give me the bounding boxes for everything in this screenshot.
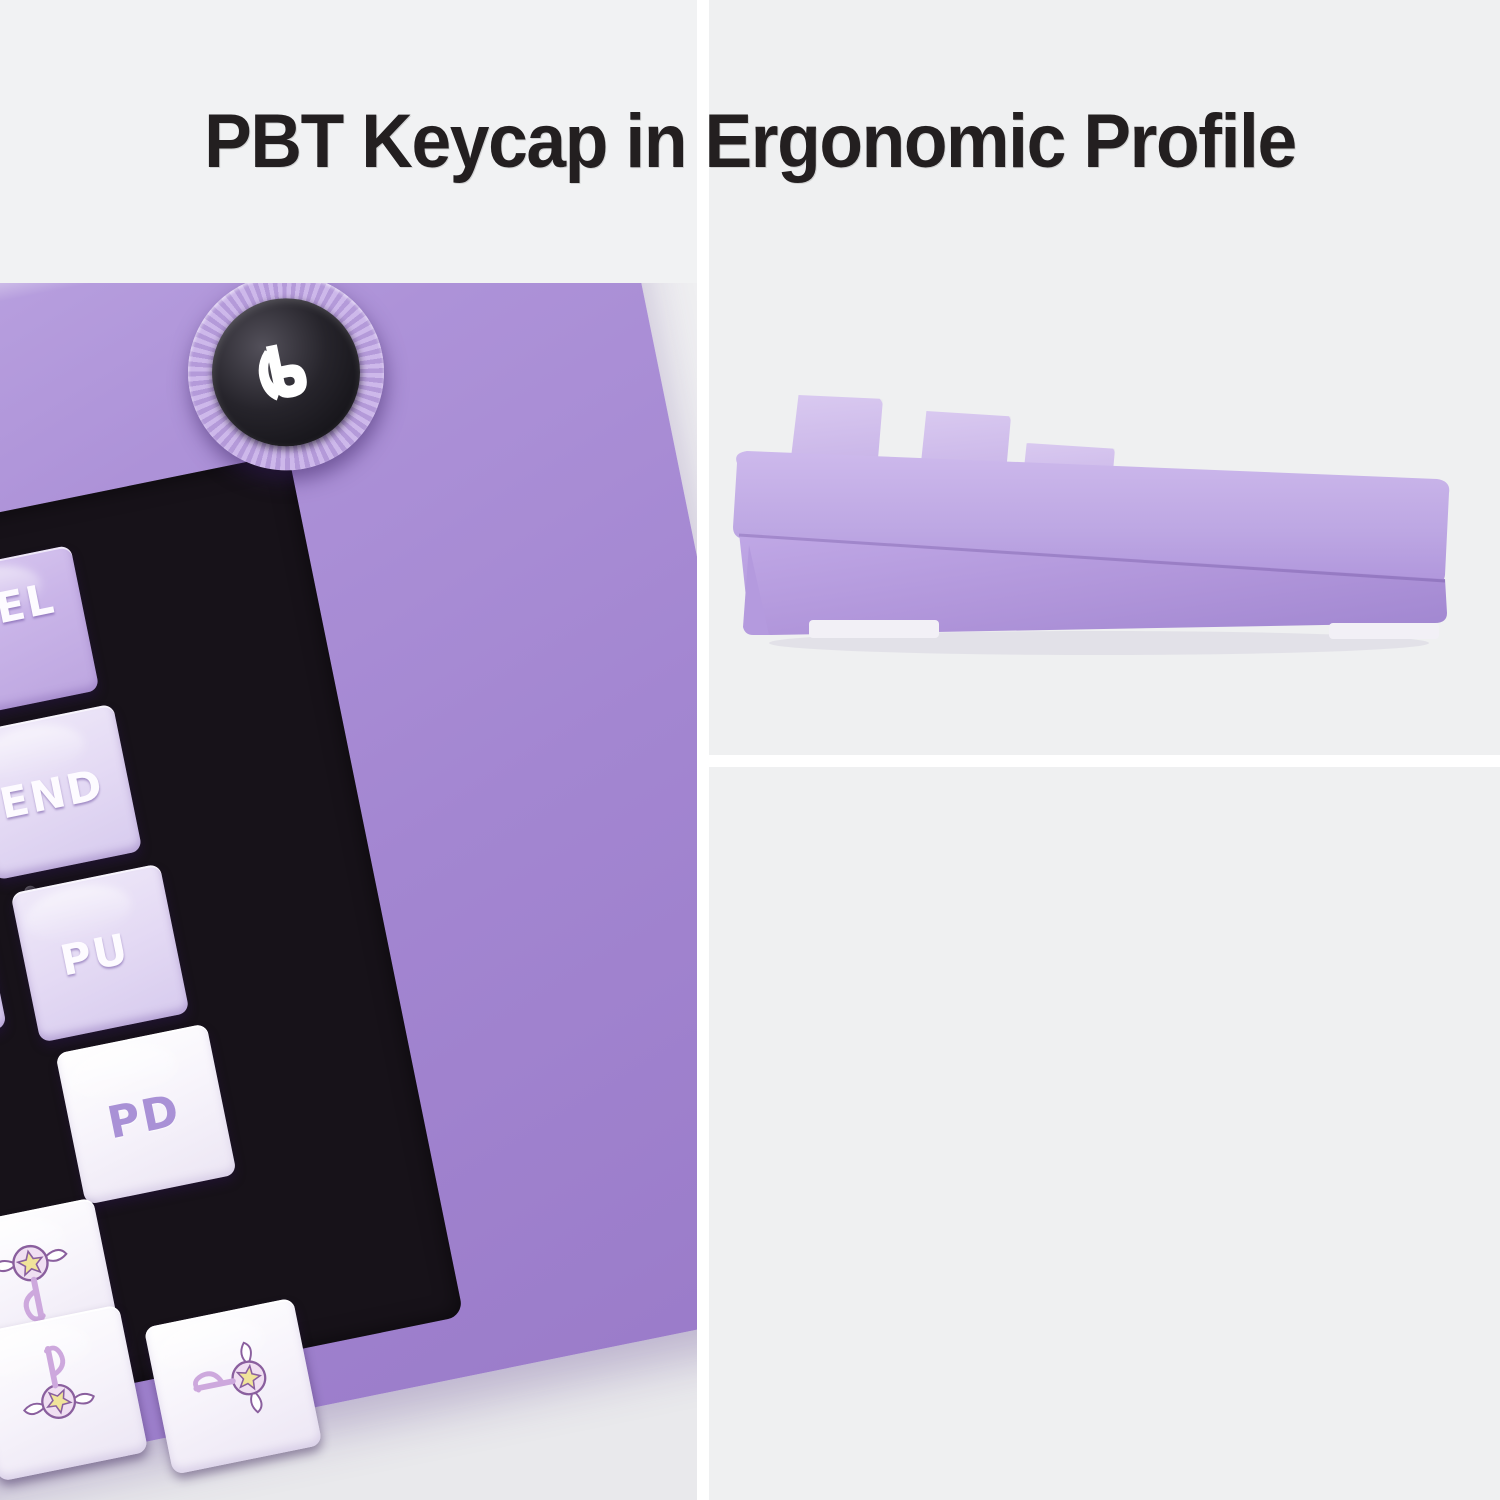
main-keyboard-photo-panel: F12 F12 BACK bbox=[0, 283, 697, 1500]
keyboard-case-side bbox=[709, 283, 1500, 755]
keyboard-side-photo bbox=[709, 283, 1500, 755]
winged-star-wand-icon bbox=[176, 1327, 284, 1435]
keyboard-body-rotated: F12 F12 BACK bbox=[0, 283, 697, 1500]
vertical-gutter bbox=[697, 0, 709, 1500]
horizontal-gutter bbox=[709, 755, 1500, 767]
b-logo-icon bbox=[235, 322, 336, 423]
keycap-height-comparison: 12.36mm 10.25mm bbox=[709, 767, 1500, 1500]
keyboard-scene: F12 F12 BACK bbox=[0, 283, 697, 1500]
keyboard-foot-left bbox=[809, 620, 939, 638]
product-infographic: PBT Keycap in Ergonomic Profile bbox=[0, 0, 1500, 1500]
key-page-up[interactable]: PU bbox=[10, 863, 189, 1042]
keyboard-foot-right bbox=[1329, 623, 1439, 639]
keycap-profiles-panel: 12.36mm 10.25mm bbox=[709, 767, 1500, 1500]
winged-star-wand-icon bbox=[1, 1328, 109, 1436]
side-view-panel bbox=[709, 283, 1500, 755]
key-arrow-right[interactable] bbox=[144, 1298, 323, 1475]
title-band: PBT Keycap in Ergonomic Profile bbox=[0, 0, 1500, 283]
key-page-down[interactable]: PD bbox=[55, 1023, 237, 1205]
page-title: PBT Keycap in Ergonomic Profile bbox=[45, 0, 1455, 283]
